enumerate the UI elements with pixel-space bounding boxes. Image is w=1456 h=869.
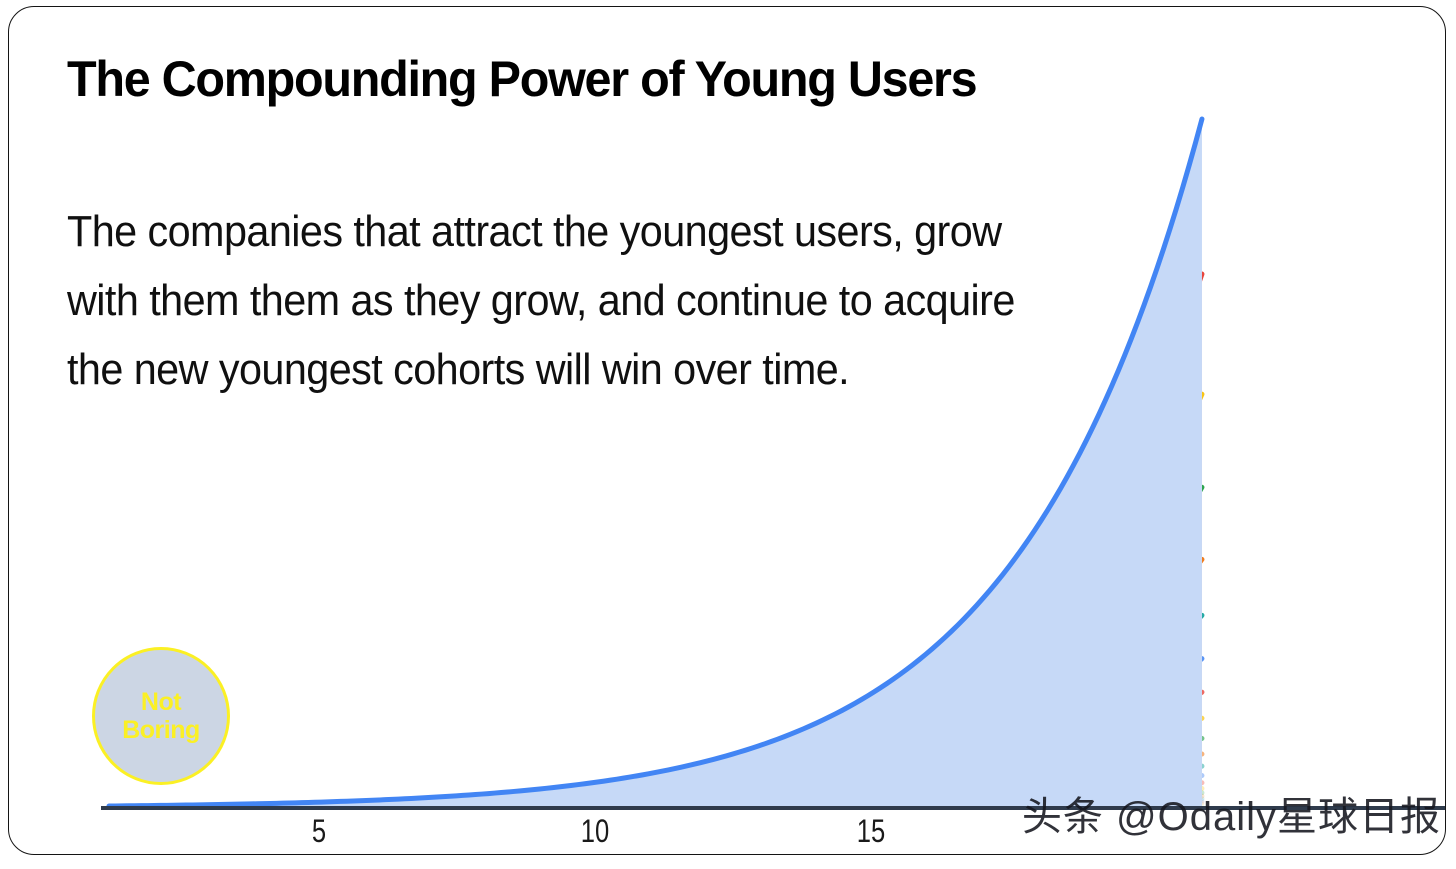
not-boring-badge[interactable]: Not Boring bbox=[92, 647, 230, 785]
badge-line-one: Not bbox=[141, 690, 181, 715]
x-tick-10: 10 bbox=[581, 813, 609, 850]
line-cohort-5 bbox=[297, 559, 1202, 806]
badge-line-two: Boring bbox=[122, 718, 200, 743]
source-watermark: 头条 @Odaily星球日报 bbox=[1022, 784, 1441, 842]
line-cohort-3 bbox=[203, 394, 1202, 806]
body-paragraph: The companies that attract the youngest … bbox=[67, 197, 1016, 404]
slide-root: The Compounding Power of Young Users The… bbox=[0, 0, 1456, 869]
area-cohort-3 bbox=[203, 394, 1202, 806]
line-cohort-4 bbox=[250, 487, 1202, 806]
area-cohort-6 bbox=[344, 615, 1202, 806]
content-card: The Compounding Power of Young Users The… bbox=[8, 6, 1446, 855]
page-title: The Compounding Power of Young Users bbox=[67, 53, 1231, 106]
x-tick-15: 15 bbox=[857, 813, 885, 850]
area-cohort-4 bbox=[250, 487, 1202, 806]
x-tick-5: 5 bbox=[312, 813, 326, 850]
area-cohort-5 bbox=[297, 559, 1202, 806]
line-cohort-6 bbox=[344, 615, 1202, 806]
